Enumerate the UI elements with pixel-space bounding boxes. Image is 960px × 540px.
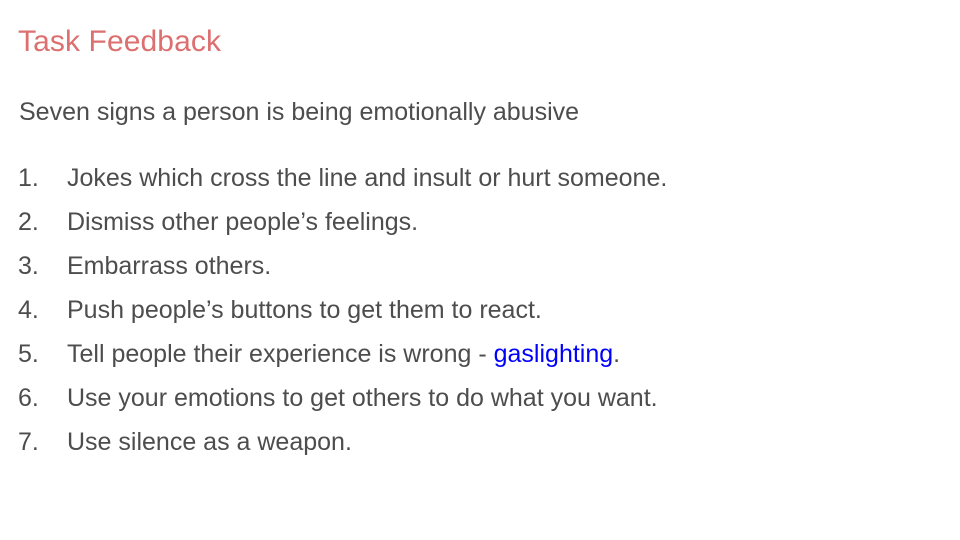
list-item-text: Use silence as a weapon. — [67, 420, 352, 464]
list-item-text-prefix: Tell people their experience is wrong - — [67, 340, 494, 368]
list-item-marker: 7. — [18, 420, 52, 464]
list-item-marker: 5. — [18, 332, 52, 376]
list-item-text: Dismiss other people’s feelings. — [67, 200, 418, 244]
list-item: 3. Embarrass others. — [0, 244, 960, 288]
list-item-text-suffix: . — [613, 340, 620, 368]
list-item-text: Embarrass others. — [67, 244, 271, 288]
gaslighting-link[interactable]: gaslighting — [494, 340, 614, 368]
list-item-text: Tell people their experience is wrong - … — [67, 332, 620, 376]
slide-subtitle: Seven signs a person is being emotionall… — [19, 96, 579, 128]
list-item: 5. Tell people their experience is wrong… — [0, 332, 960, 376]
list-item-text: Push people’s buttons to get them to rea… — [67, 288, 542, 332]
list-item: 2. Dismiss other people’s feelings. — [0, 200, 960, 244]
list-item-text: Use your emotions to get others to do wh… — [67, 376, 658, 420]
list-item-marker: 4. — [18, 288, 52, 332]
list-item-marker: 3. — [18, 244, 52, 288]
slide-canvas: Task Feedback Seven signs a person is be… — [0, 0, 960, 540]
list-item: 1. Jokes which cross the line and insult… — [0, 156, 960, 200]
list-item: 6. Use your emotions to get others to do… — [0, 376, 960, 420]
list-item: 7. Use silence as a weapon. — [0, 420, 960, 464]
list-item-marker: 2. — [18, 200, 52, 244]
list-item-marker: 1. — [18, 156, 52, 200]
list-item-text: Jokes which cross the line and insult or… — [67, 156, 667, 200]
page-title: Task Feedback — [18, 23, 221, 61]
list-item-marker: 6. — [18, 376, 52, 420]
list-item: 4. Push people’s buttons to get them to … — [0, 288, 960, 332]
numbered-list: 1. Jokes which cross the line and insult… — [0, 156, 960, 464]
